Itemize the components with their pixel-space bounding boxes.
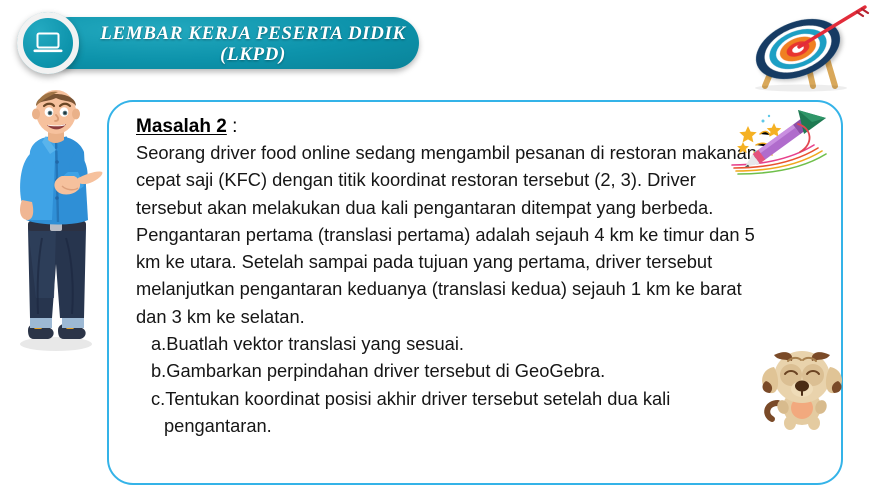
list-item: a.Buatlah vektor translasi yang sesuai. (136, 330, 786, 357)
list-item-text: Tentukan koordinat posisi akhir driver t… (165, 388, 670, 409)
list-item: c.Tentukan koordinat posisi akhir driver… (136, 385, 786, 440)
problem-paragraph: Seorang driver food online sedang mengam… (136, 139, 762, 330)
logo-badge (17, 12, 79, 74)
problem-colon: : (227, 116, 238, 137)
list-item-text: Buatlah vektor translasi yang sesuai. (166, 333, 464, 354)
lkpd-worksheet-page: LEMBAR KERJA PESERTA DIDIK (LKPD) (0, 0, 889, 500)
list-item-marker: b. (151, 360, 166, 381)
pencil-rocket-icon (726, 104, 838, 178)
problem-label: Masalah 2 (136, 116, 227, 137)
cartoon-dog-icon (752, 345, 848, 437)
list-item-text: Gambarkan perpindahan driver tersebut di… (166, 360, 605, 381)
header-banner (44, 17, 419, 69)
archery-target-icon (735, 2, 885, 94)
problem-title: Masalah 2 : (136, 116, 786, 138)
problem-sub-list: a.Buatlah vektor translasi yang sesuai. … (136, 330, 786, 439)
laptop-icon (33, 31, 63, 55)
list-item: b.Gambarkan perpindahan driver tersebut … (136, 357, 786, 384)
content-inner: Masalah 2 : Seorang driver food online s… (136, 116, 786, 439)
cartoon-man-pointing-icon (6, 88, 110, 356)
list-item-marker: c. (151, 388, 165, 409)
list-item-marker: a. (151, 333, 166, 354)
list-item-continuation: pengantaran. (151, 412, 786, 439)
logo-ring (17, 12, 79, 74)
